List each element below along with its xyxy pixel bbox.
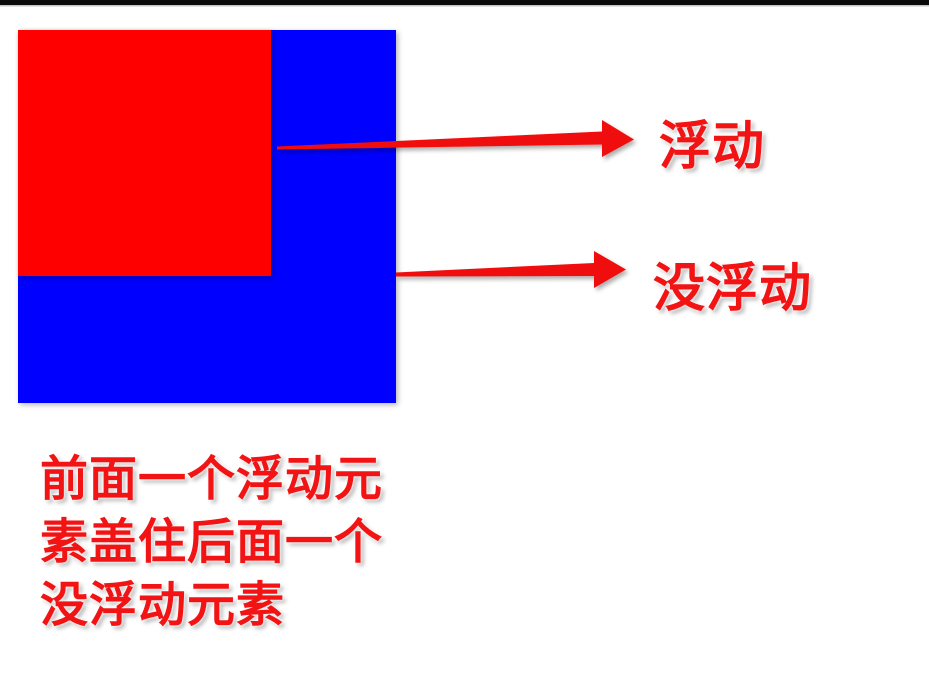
top-white-gap [0, 7, 929, 30]
label-floated: 浮动 [659, 104, 765, 179]
caption-line-1: 前面一个浮动元 [40, 448, 460, 511]
red-floated-box [18, 30, 271, 276]
caption-line-2: 素盖住后面一个 [40, 511, 460, 574]
caption-block: 前面一个浮动元 素盖住后面一个 没浮动元素 [40, 448, 460, 637]
arrow-to-static [392, 246, 630, 294]
caption-line-3: 没浮动元素 [40, 574, 460, 637]
float-demo-group [18, 30, 396, 403]
screenshot-canvas: 浮动 没浮动 前面一个浮动元 素盖住后面一个 没浮动元素 [0, 0, 929, 692]
label-not-floated: 没浮动 [653, 246, 812, 321]
